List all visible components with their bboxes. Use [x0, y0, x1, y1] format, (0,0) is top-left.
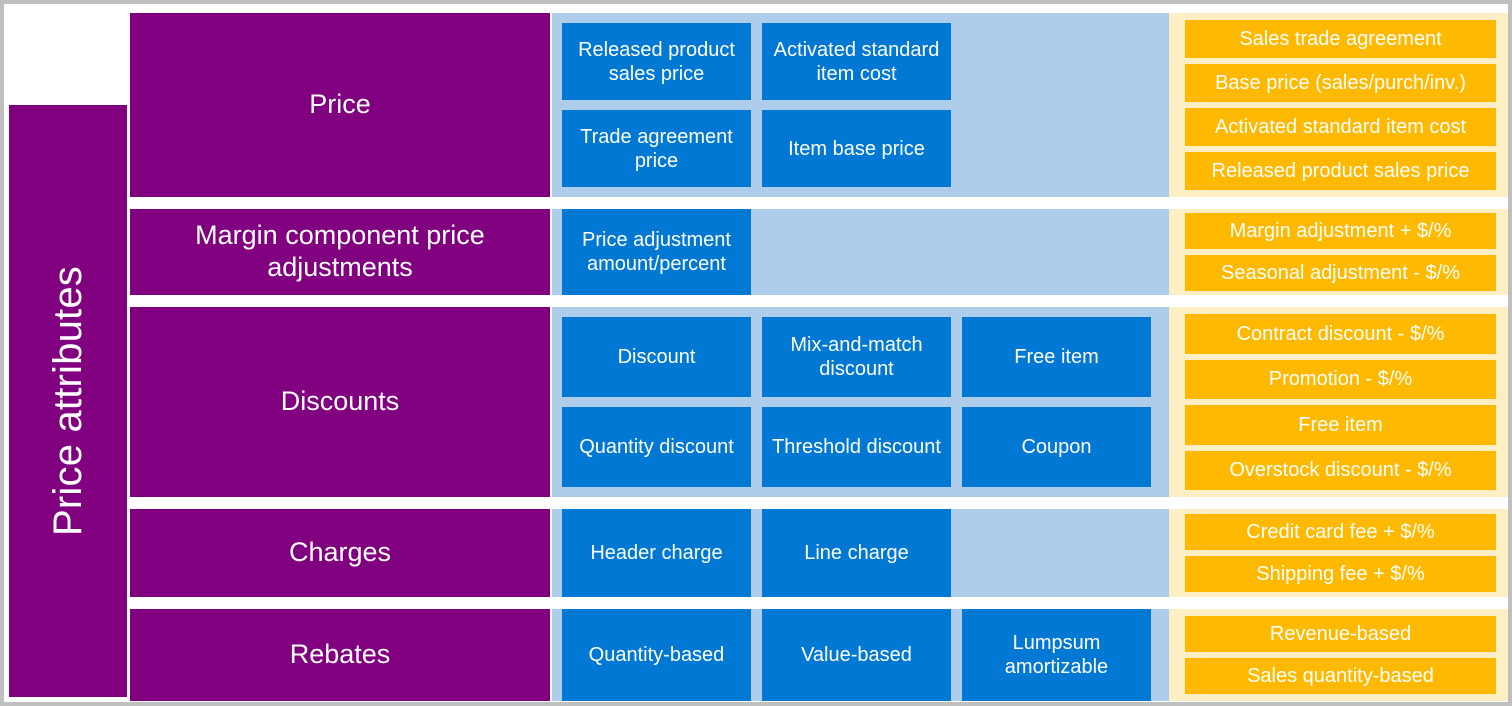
- components-band-discounts: Discount Mix-and-match discount Free ite…: [552, 307, 1169, 497]
- component-box[interactable]: Coupon: [962, 407, 1151, 487]
- row-price: Price Released product sales price Activ…: [130, 13, 1508, 197]
- category-margin-component-price-adjustments: Margin component price adjustments: [130, 209, 550, 295]
- category-price: Price: [130, 13, 550, 197]
- component-box[interactable]: Trade agreement price: [562, 110, 751, 187]
- components-line-1: Discount Mix-and-match discount Free ite…: [552, 307, 1169, 402]
- example-box[interactable]: Released product sales price: [1185, 152, 1496, 190]
- component-box[interactable]: Price adjustment amount/percent: [562, 209, 751, 295]
- row-rebates: Rebates Quantity-based Value-based Lumps…: [130, 609, 1508, 701]
- examples-band-discounts: Contract discount - $/% Promotion - $/% …: [1169, 307, 1508, 497]
- row-charges: Charges Header charge Line charge Credit…: [130, 509, 1508, 597]
- examples-band-rebates: Revenue-based Sales quantity-based: [1169, 609, 1508, 701]
- component-box[interactable]: Value-based: [762, 609, 951, 701]
- components-band-price: Released product sales price Activated s…: [552, 13, 1169, 197]
- category-rebates: Rebates: [130, 609, 550, 701]
- side-label-text: Price attributes: [48, 266, 88, 536]
- component-box[interactable]: Activated standard item cost: [762, 23, 951, 100]
- components-line-1: Released product sales price Activated s…: [552, 13, 1169, 105]
- component-box[interactable]: Quantity-based: [562, 609, 751, 701]
- category-charges: Charges: [130, 509, 550, 597]
- components-line-1: Quantity-based Value-based Lumpsum amort…: [552, 609, 1169, 701]
- example-box[interactable]: Activated standard item cost: [1185, 108, 1496, 146]
- component-box[interactable]: Quantity discount: [562, 407, 751, 487]
- component-box-empty: [962, 509, 1151, 597]
- row-margin-component-price-adjustments: Margin component price adjustments Price…: [130, 209, 1508, 295]
- category-discounts: Discounts: [130, 307, 550, 497]
- examples-band-margin: Margin adjustment + $/% Seasonal adjustm…: [1169, 209, 1508, 295]
- component-box-empty: [762, 209, 951, 295]
- components-line-2: Trade agreement price Item base price: [552, 105, 1169, 197]
- example-box[interactable]: Sales trade agreement: [1185, 20, 1496, 58]
- component-box[interactable]: Header charge: [562, 509, 751, 597]
- component-box[interactable]: Released product sales price: [562, 23, 751, 100]
- component-box[interactable]: Item base price: [762, 110, 951, 187]
- component-box-empty: [962, 23, 1151, 100]
- component-box-empty: [962, 110, 1151, 187]
- row-discounts: Discounts Discount Mix-and-match discoun…: [130, 307, 1508, 497]
- components-band-rebates: Quantity-based Value-based Lumpsum amort…: [552, 609, 1169, 701]
- component-box[interactable]: Lumpsum amortizable: [962, 609, 1151, 701]
- component-box[interactable]: Threshold discount: [762, 407, 951, 487]
- example-box[interactable]: Sales quantity-based: [1185, 658, 1496, 694]
- component-box[interactable]: Mix-and-match discount: [762, 317, 951, 397]
- component-box[interactable]: Free item: [962, 317, 1151, 397]
- example-box[interactable]: Revenue-based: [1185, 616, 1496, 652]
- price-attributes-side-label: Price attributes: [9, 105, 127, 697]
- example-box[interactable]: Free item: [1185, 405, 1496, 445]
- example-box[interactable]: Seasonal adjustment - $/%: [1185, 255, 1496, 291]
- component-box-empty: [962, 209, 1151, 295]
- components-line-2: Quantity discount Threshold discount Cou…: [552, 402, 1169, 497]
- example-box[interactable]: Credit card fee + $/%: [1185, 514, 1496, 550]
- examples-band-price: Sales trade agreement Base price (sales/…: [1169, 13, 1508, 197]
- price-attributes-diagram: Price attributes Price Released product …: [0, 0, 1512, 706]
- component-box[interactable]: Line charge: [762, 509, 951, 597]
- example-box[interactable]: Base price (sales/purch/inv.): [1185, 64, 1496, 102]
- example-box[interactable]: Overstock discount - $/%: [1185, 451, 1496, 491]
- components-band-margin: Price adjustment amount/percent: [552, 209, 1169, 295]
- components-band-charges: Header charge Line charge: [552, 509, 1169, 597]
- example-box[interactable]: Promotion - $/%: [1185, 360, 1496, 400]
- component-box[interactable]: Discount: [562, 317, 751, 397]
- example-box[interactable]: Margin adjustment + $/%: [1185, 213, 1496, 249]
- components-line-1: Header charge Line charge: [552, 509, 1169, 597]
- components-line-1: Price adjustment amount/percent: [552, 209, 1169, 295]
- example-box[interactable]: Contract discount - $/%: [1185, 314, 1496, 354]
- examples-band-charges: Credit card fee + $/% Shipping fee + $/%: [1169, 509, 1508, 597]
- example-box[interactable]: Shipping fee + $/%: [1185, 556, 1496, 592]
